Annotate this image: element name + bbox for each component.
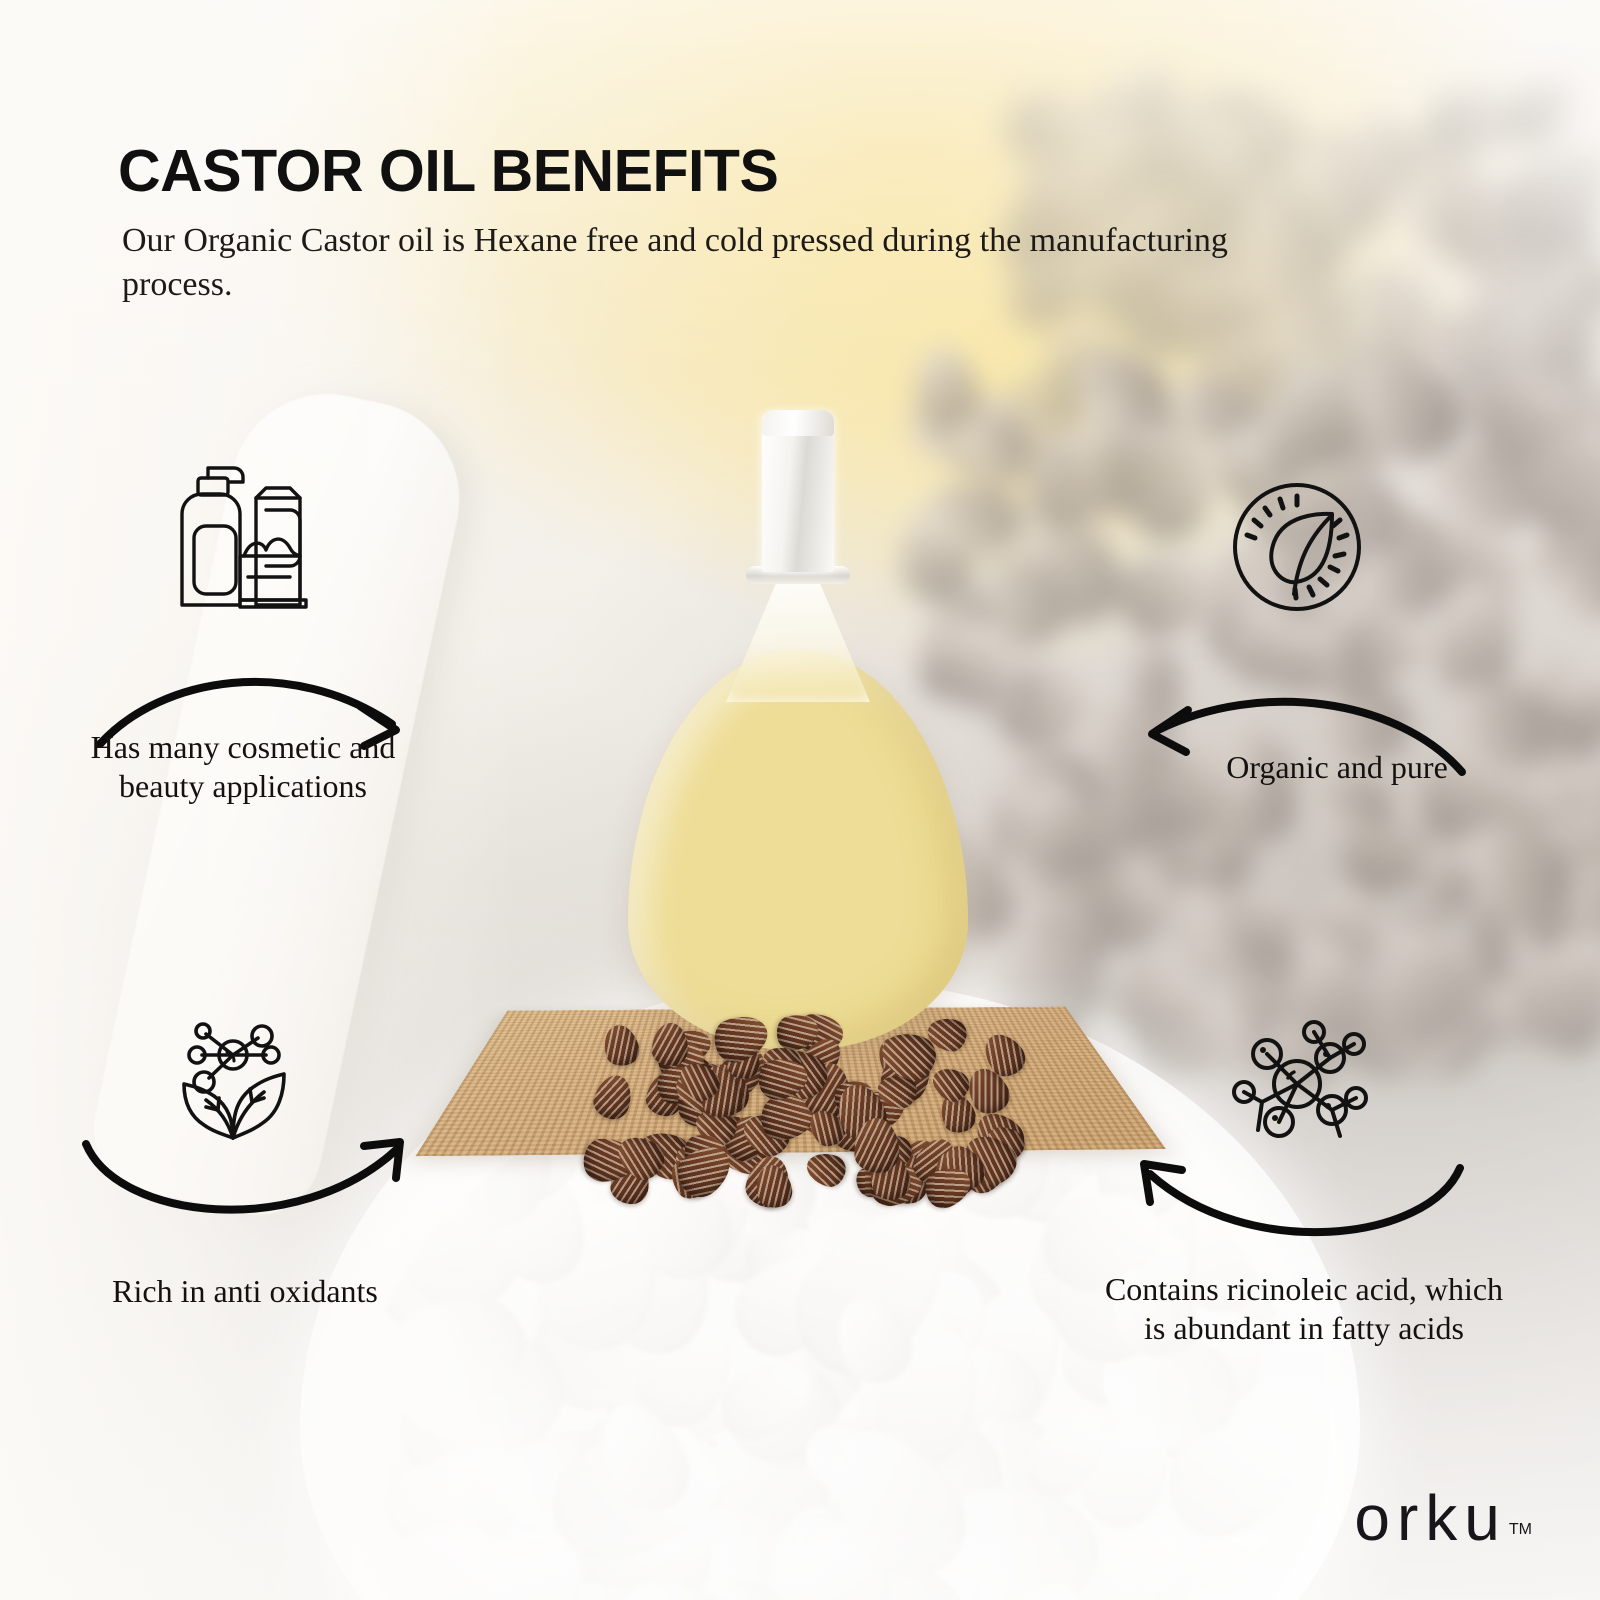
benefit-ricinoleic-label: Contains ricinoleic acid, which is abund… bbox=[1098, 1270, 1510, 1348]
infographic-poster: CASTOR OIL BENEFITS Our Organic Castor o… bbox=[0, 0, 1600, 1600]
header: CASTOR OIL BENEFITS Our Organic Castor o… bbox=[118, 142, 1298, 306]
cosmetic-bottles-icon bbox=[152, 452, 314, 614]
benefit-organic-label: Organic and pure bbox=[1172, 748, 1502, 787]
benefit-antioxidants-label: Rich in anti oxidants bbox=[40, 1272, 450, 1311]
leaf-in-circle-icon bbox=[1228, 478, 1366, 616]
page-title: CASTOR OIL BENEFITS bbox=[118, 142, 1298, 201]
molecule-icon bbox=[1222, 1006, 1372, 1146]
trademark-symbol: TM bbox=[1509, 1521, 1532, 1538]
page-subtitle: Our Organic Castor oil is Hexane free an… bbox=[122, 219, 1252, 306]
molecule-leaves-icon bbox=[166, 1012, 300, 1146]
brand-name: orku bbox=[1354, 1482, 1507, 1554]
content-layer: CASTOR OIL BENEFITS Our Organic Castor o… bbox=[0, 0, 1600, 1600]
benefit-cosmetic-label: Has many cosmetic and beauty application… bbox=[48, 728, 438, 806]
brand-logo: orkuTM bbox=[1354, 1486, 1532, 1550]
curved-arrow-left-up-icon bbox=[1128, 1152, 1468, 1270]
curved-arrow-right-up-icon bbox=[78, 1128, 418, 1248]
